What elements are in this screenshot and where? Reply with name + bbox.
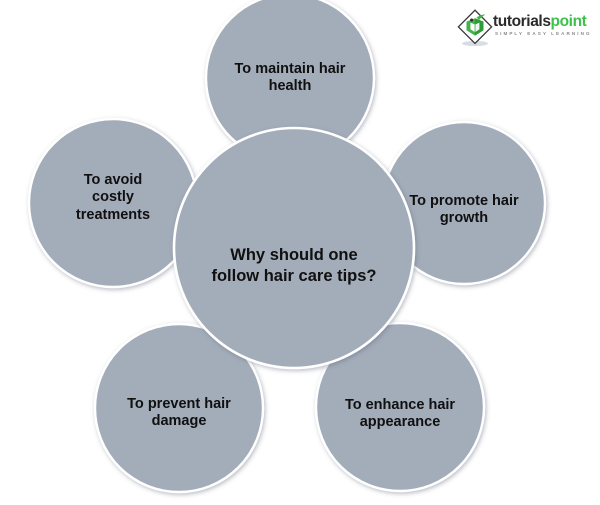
logo-wordmark: tutorialspoint bbox=[493, 14, 586, 30]
logo-word-tutorials: tutorials bbox=[493, 13, 551, 30]
center-node-shape bbox=[174, 128, 414, 368]
node-avoid-costly-treatments-shape bbox=[29, 119, 197, 287]
diagram-canvas: To maintain hair healthTo promote hair g… bbox=[0, 0, 600, 500]
logo-word-point: point bbox=[551, 13, 587, 30]
tutorialspoint-logo: tutorialspoint SIMPLY EASY LEARNING bbox=[455, 6, 597, 50]
diamond-book-icon bbox=[455, 8, 495, 48]
radial-cluster-diagram bbox=[0, 0, 600, 500]
center-circle-layer bbox=[174, 128, 414, 368]
logo-tagline: SIMPLY EASY LEARNING bbox=[495, 31, 592, 36]
